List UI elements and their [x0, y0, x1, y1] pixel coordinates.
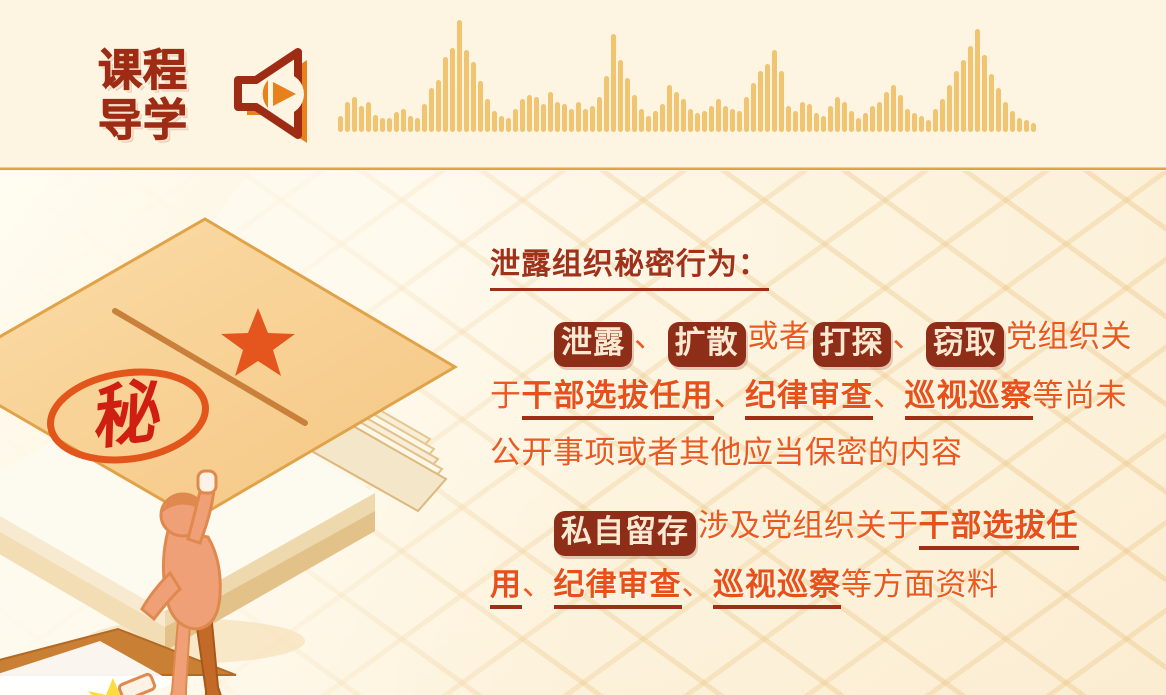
waveform-bar: [646, 116, 651, 132]
underlined-keyword: 纪律审查: [745, 378, 873, 420]
body-text: 或者: [748, 319, 811, 354]
waveform-bar: [905, 109, 910, 132]
underlined-keyword: 干部选拔任用: [522, 378, 714, 420]
waveform-bar: [912, 113, 917, 132]
waveform-bar: [723, 106, 728, 132]
waveform-bar: [849, 111, 854, 132]
waveform-bar: [856, 118, 861, 132]
waveform-bar: [779, 71, 784, 132]
audio-waveform: [338, 20, 1148, 132]
body-text: 、: [682, 567, 714, 602]
waveform-bar: [737, 111, 742, 132]
waveform-bar: [674, 92, 679, 132]
waveform-bar: [765, 64, 770, 132]
text-block: 泄露组织秘密行为： 泄露、扩散或者打探、窃取党组织关于干部选拔任用、纪律审查、巡…: [490, 239, 1140, 613]
body-text: 、: [522, 567, 554, 602]
waveform-bar: [436, 80, 441, 133]
highlight-tag: 窃取: [926, 322, 1004, 367]
waveform-bar: [842, 102, 847, 132]
waveform-bar: [555, 102, 560, 132]
waveform-bar: [1024, 120, 1029, 132]
waveform-bar: [898, 95, 903, 132]
course-guide-logo: 课程 导学: [98, 46, 210, 146]
waveform-bar: [401, 109, 406, 132]
waveform-bar: [926, 120, 931, 132]
waveform-bar: [877, 102, 882, 132]
waveform-bar: [394, 112, 399, 132]
body-text: 等方面资料: [841, 567, 999, 602]
infographic-page: 课程 导学: [0, 0, 1166, 695]
waveform-bar: [975, 29, 980, 132]
page-header: 课程 导学: [0, 0, 1166, 170]
waveform-bar: [478, 81, 483, 132]
waveform-bar: [485, 99, 490, 132]
content-area: 秘: [0, 171, 1166, 695]
waveform-bar: [639, 109, 644, 132]
waveform-bar: [1031, 123, 1036, 132]
waveform-bar: [786, 106, 791, 132]
waveform-bar: [380, 118, 385, 132]
waveform-bar: [716, 99, 721, 132]
waveform-bar: [660, 104, 665, 132]
waveform-bar: [695, 113, 700, 132]
waveform-bar: [940, 99, 945, 132]
waveform-bar: [604, 76, 609, 132]
waveform-bar: [590, 106, 595, 132]
highlight-tag: 打探: [813, 322, 891, 367]
header-divider: [0, 167, 1166, 170]
waveform-bar: [464, 50, 469, 132]
waveform-bar: [989, 74, 994, 132]
logo-line-1: 课程: [98, 46, 188, 96]
section-heading-wrap: 泄露组织秘密行为：: [490, 239, 1140, 308]
waveform-bar: [702, 111, 707, 132]
waveform-bar: [415, 118, 420, 132]
page-heading: 泄露组织秘密行为：: [490, 239, 769, 291]
waveform-bar: [541, 104, 546, 132]
waveform-bar: [758, 71, 763, 132]
waveform-bar: [793, 111, 798, 132]
waveform-bar: [933, 109, 938, 132]
waveform-bar: [961, 60, 966, 132]
waveform-bar: [471, 62, 476, 132]
waveform-bar: [366, 102, 371, 132]
waveform-bar: [891, 85, 896, 132]
body-text: 涉及党组织关于: [698, 508, 919, 543]
waveform-bar: [492, 111, 497, 132]
body-text: 、: [714, 378, 746, 413]
waveform-bar: [807, 104, 812, 132]
waveform-bar: [513, 109, 518, 132]
waveform-bar: [730, 109, 735, 132]
highlight-tag: 私自留存: [554, 511, 696, 556]
waveform-bar: [863, 113, 868, 132]
waveform-bar: [443, 57, 448, 132]
highlight-tag: 泄露: [554, 322, 632, 367]
logo-line-2: 导学: [98, 96, 188, 146]
body-text: 、: [893, 319, 925, 354]
waveform-bar: [422, 104, 427, 132]
waveform-bar: [527, 95, 532, 132]
waveform-bar: [667, 85, 672, 132]
waveform-bar: [919, 116, 924, 132]
waveform-bar: [352, 97, 357, 132]
waveform-bar: [709, 106, 714, 132]
underlined-keyword: 纪律审查: [554, 567, 682, 609]
waveform-bar: [429, 88, 434, 132]
waveform-bar: [772, 50, 777, 132]
waveform-bar: [597, 97, 602, 132]
waveform-bar: [562, 104, 567, 132]
body-text: 、: [873, 378, 905, 413]
waveform-bar: [835, 97, 840, 132]
waveform-bar: [828, 106, 833, 132]
waveform-bar: [884, 92, 889, 132]
svg-text:秘: 秘: [93, 370, 163, 460]
waveform-bar: [688, 109, 693, 132]
waveform-bar: [751, 83, 756, 132]
waveform-bar: [681, 99, 686, 132]
waveform-bar: [373, 115, 378, 133]
waveform-bar: [618, 60, 623, 132]
underlined-keyword: 巡视巡察: [905, 378, 1033, 420]
highlight-tag: 扩散: [668, 322, 746, 367]
underlined-keyword: 巡视巡察: [713, 567, 841, 609]
waveform-bar: [1017, 118, 1022, 132]
waveform-bar: [506, 118, 511, 132]
waveform-bar: [947, 85, 952, 132]
waveform-bar: [982, 55, 987, 132]
waveform-bar: [387, 118, 392, 132]
waveform-bar: [625, 78, 630, 132]
waveform-bar: [520, 99, 525, 132]
waveform-bar: [499, 116, 504, 132]
waveform-bar: [1010, 111, 1015, 132]
waveform-bar: [359, 106, 364, 132]
waveform-bar: [457, 20, 462, 132]
waveform-bar: [996, 88, 1001, 132]
waveform-bar: [583, 109, 588, 132]
waveform-bar: [345, 102, 350, 132]
waveform-bar: [611, 34, 616, 132]
waveform-bar: [450, 48, 455, 132]
waveform-bar: [1003, 102, 1008, 132]
waveform-bar: [821, 116, 826, 132]
waveform-bar: [968, 46, 973, 132]
waveform-bar: [744, 97, 749, 132]
paragraph-leak-behaviour: 泄露、扩散或者打探、窃取党组织关于干部选拔任用、纪律审查、巡视巡察等尚未公开事项…: [490, 308, 1140, 481]
waveform-bar: [814, 113, 819, 132]
waveform-bar: [338, 116, 343, 132]
secret-document-illustration: 秘: [0, 171, 470, 695]
waveform-bar: [576, 102, 581, 132]
waveform-bar: [653, 111, 658, 132]
waveform-bar: [954, 71, 959, 132]
waveform-bar: [534, 97, 539, 132]
waveform-bar: [870, 106, 875, 132]
megaphone-play-icon: [228, 48, 332, 152]
waveform-bar: [408, 116, 413, 132]
body-text: 、: [634, 319, 666, 354]
waveform-bar: [548, 92, 553, 132]
paragraph-private-retention: 私自留存涉及党组织关于干部选拔任用、纪律审查、巡视巡察等方面资料: [490, 497, 1140, 613]
waveform-bar: [632, 95, 637, 132]
waveform-bar: [569, 109, 574, 132]
waveform-bar: [800, 102, 805, 132]
